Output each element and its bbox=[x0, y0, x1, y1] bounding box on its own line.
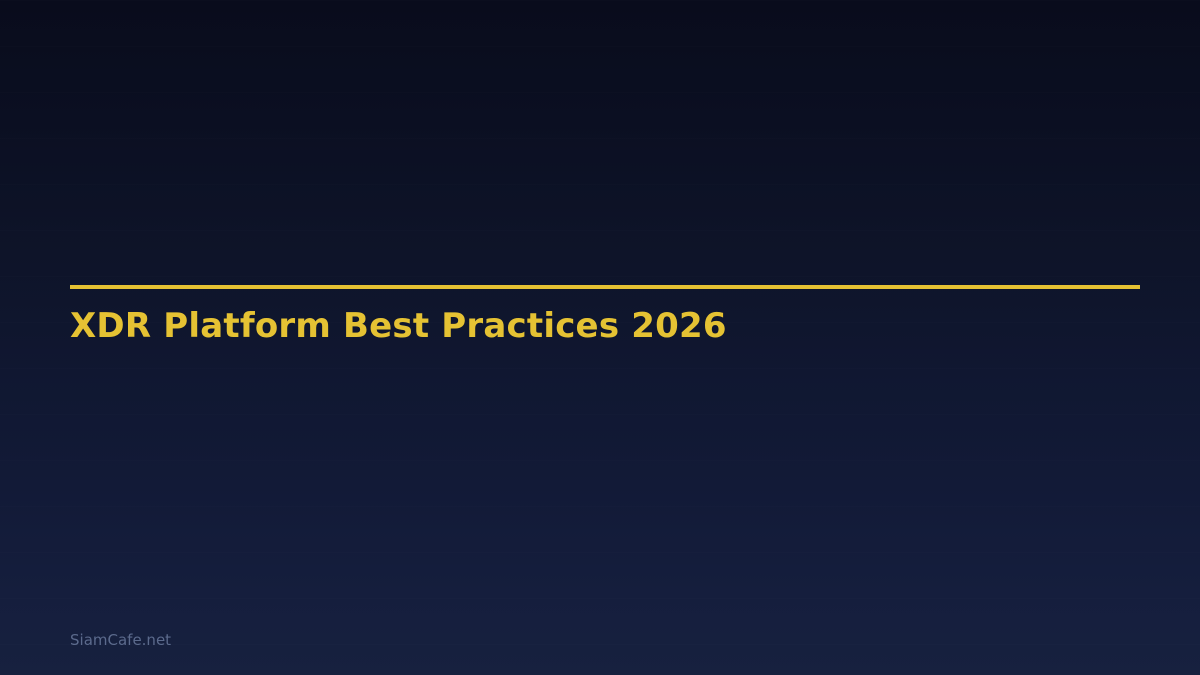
title-block: XDR Platform Best Practices 2026 bbox=[70, 285, 1140, 289]
page-title: XDR Platform Best Practices 2026 bbox=[70, 306, 727, 346]
accent-rule-divider bbox=[70, 285, 1140, 289]
presentation-slide: XDR Platform Best Practices 2026 SiamCaf… bbox=[0, 0, 1200, 675]
footer-source-label: SiamCafe.net bbox=[70, 630, 171, 650]
